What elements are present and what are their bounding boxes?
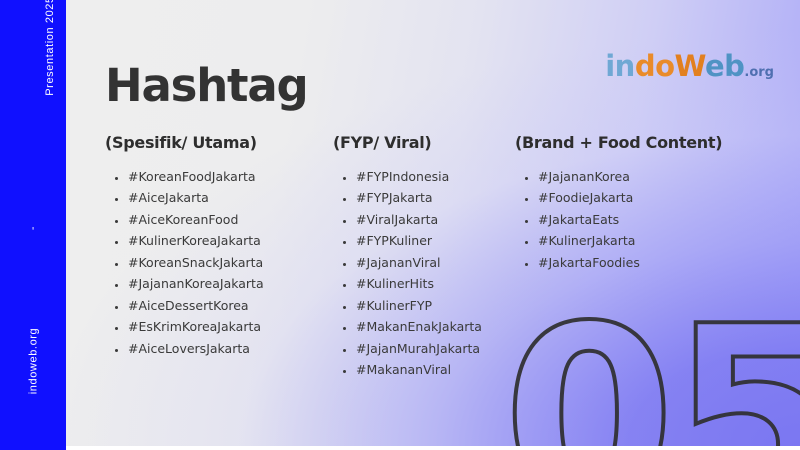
logo-part-w: W bbox=[675, 49, 705, 83]
list-item: #KoreanSnackJakarta bbox=[128, 252, 333, 274]
list-item: #JakartaEats bbox=[538, 209, 765, 231]
hashtag-columns: (Spesifik/ Utama) #KoreanFoodJakarta #Ai… bbox=[105, 134, 785, 381]
list-item: #MakananViral bbox=[356, 359, 515, 381]
left-rail: Presentation 2025 - indoweb.org bbox=[0, 0, 66, 450]
hashtag-list-brand: #JajananKorea #FoodieJakarta #JakartaEat… bbox=[515, 166, 765, 274]
list-item: #KulinerHits bbox=[356, 273, 515, 295]
hashtag-column-spesifik: (Spesifik/ Utama) #KoreanFoodJakarta #Ai… bbox=[105, 134, 333, 359]
list-item: #MakanEnakJakarta bbox=[356, 316, 515, 338]
rail-presentation-label: Presentation 2025 bbox=[0, 40, 66, 52]
logo-part-eb: eb bbox=[705, 49, 744, 83]
list-item: #JajanMurahJakarta bbox=[356, 338, 515, 360]
list-item: #KulinerJakarta bbox=[538, 230, 765, 252]
logo-part-in: in bbox=[605, 49, 635, 83]
logo-part-do: do bbox=[635, 49, 675, 83]
hashtag-column-brand: (Brand + Food Content) #JajananKorea #Fo… bbox=[515, 134, 765, 273]
column-heading: (Brand + Food Content) bbox=[515, 134, 765, 152]
list-item: #ViralJakarta bbox=[356, 209, 515, 231]
rail-divider-text: - bbox=[27, 226, 39, 230]
indoweb-logo[interactable]: indoWeb.org bbox=[605, 52, 774, 81]
list-item: #JajananKorea bbox=[538, 166, 765, 188]
list-item: #FYPIndonesia bbox=[356, 166, 515, 188]
rail-website-label: indoweb.org bbox=[0, 355, 66, 367]
hashtag-list-spesifik: #KoreanFoodJakarta #AiceJakarta #AiceKor… bbox=[105, 166, 333, 360]
hashtag-column-fyp: (FYP/ Viral) #FYPIndonesia #FYPJakarta #… bbox=[333, 134, 515, 381]
list-item: #JajananViral bbox=[356, 252, 515, 274]
list-item: #KulinerKoreaJakarta bbox=[128, 230, 333, 252]
list-item: #FYPKuliner bbox=[356, 230, 515, 252]
list-item: #KulinerFYP bbox=[356, 295, 515, 317]
rail-divider-label: - bbox=[0, 222, 66, 234]
list-item: #FYPJakarta bbox=[356, 187, 515, 209]
list-item: #FoodieJakarta bbox=[538, 187, 765, 209]
page-title: Hashtag bbox=[105, 63, 308, 108]
column-heading: (Spesifik/ Utama) bbox=[105, 134, 333, 152]
list-item: #AiceDessertKorea bbox=[128, 295, 333, 317]
rail-website-text: indoweb.org bbox=[27, 328, 39, 395]
list-item: #KoreanFoodJakarta bbox=[128, 166, 333, 188]
logo-part-org: .org bbox=[744, 65, 774, 80]
list-item: #JajananKoreaJakarta bbox=[128, 273, 333, 295]
bottom-white-strip bbox=[66, 446, 800, 450]
list-item: #AiceJakarta bbox=[128, 187, 333, 209]
presentation-slide: 05 Presentation 2025 - indoweb.org indoW… bbox=[0, 0, 800, 450]
rail-presentation-text: Presentation 2025 bbox=[44, 0, 56, 96]
hashtag-list-fyp: #FYPIndonesia #FYPJakarta #ViralJakarta … bbox=[333, 166, 515, 381]
list-item: #AiceKoreanFood bbox=[128, 209, 333, 231]
list-item: #AiceLoversJakarta bbox=[128, 338, 333, 360]
list-item: #EsKrimKoreaJakarta bbox=[128, 316, 333, 338]
list-item: #JakartaFoodies bbox=[538, 252, 765, 274]
column-heading: (FYP/ Viral) bbox=[333, 134, 515, 152]
